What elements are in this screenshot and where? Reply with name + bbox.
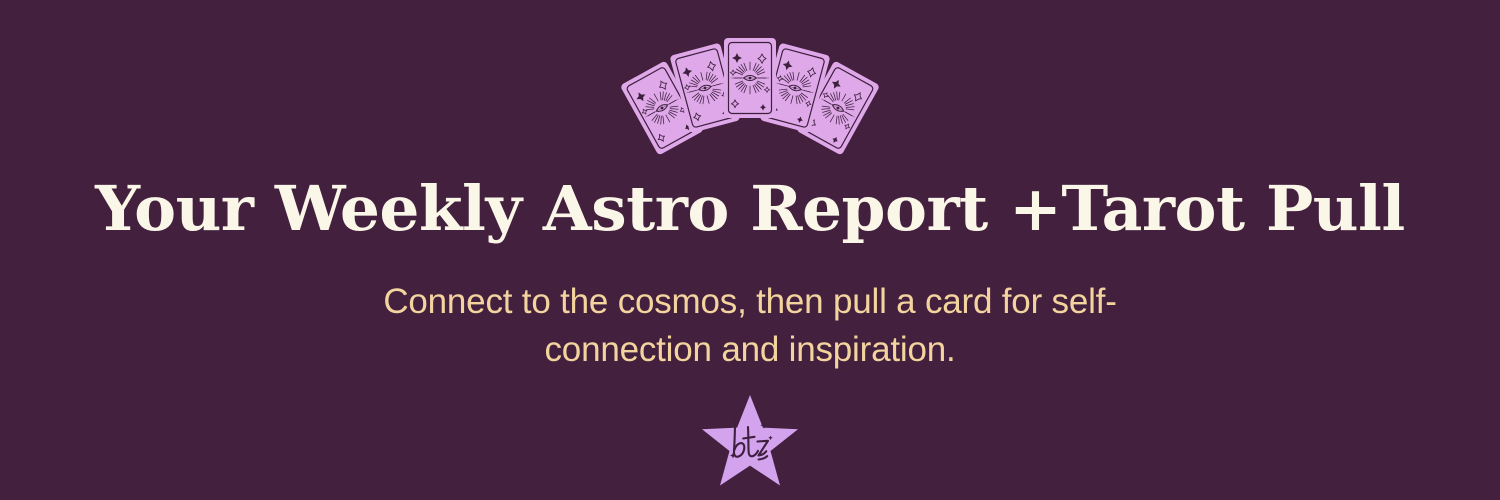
astro-report-banner: Your Weekly Astro Report +Tarot Pull Con…: [0, 0, 1500, 500]
tarot-card-fan-icon: [620, 30, 880, 160]
page-title: Your Weekly Astro Report +Tarot Pull: [0, 176, 1500, 241]
subtitle-line-2: connection and inspiration.: [0, 326, 1500, 374]
btz-star-logo: [702, 393, 798, 489]
page-subtitle: Connect to the cosmos, then pull a card …: [0, 278, 1500, 375]
tarot-card-3: [724, 38, 776, 118]
star-shape: [702, 395, 798, 486]
subtitle-line-1: Connect to the cosmos, then pull a card …: [0, 278, 1500, 326]
